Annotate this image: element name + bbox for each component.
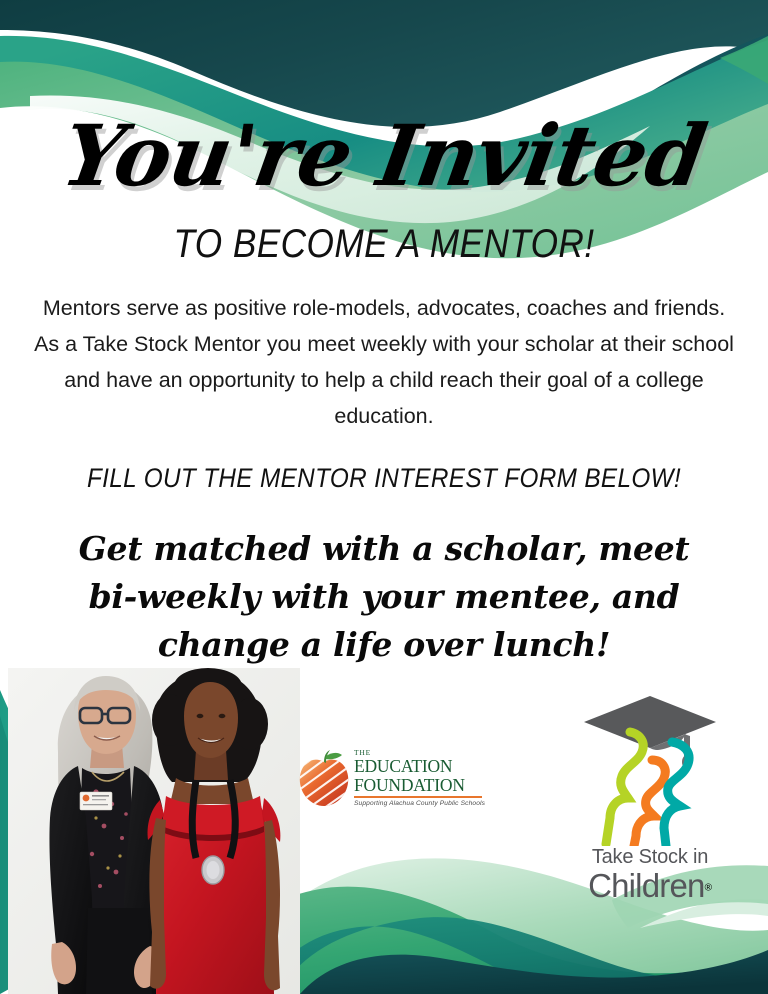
take-stock-in-children-logo: Take Stock in Children®	[566, 694, 734, 920]
education-foundation-logo: THE EDUCATION FOUNDATION Supporting Alac…	[296, 748, 486, 810]
graduation-cap-and-figures-icon	[566, 694, 734, 846]
body-paragraph: Mentors serve as positive role-models, a…	[34, 290, 734, 434]
striped-apple-icon	[296, 750, 352, 808]
flyer-page: You're Invited TO BECOME A MENTOR! Mento…	[0, 0, 768, 994]
pitch-line-1: Get matched with a scholar, meet	[40, 525, 728, 573]
page-subtitle: TO BECOME A MENTOR!	[46, 224, 722, 264]
mentor-scholar-photo	[0, 668, 300, 994]
tsc-line1-label: Take Stock in	[566, 846, 734, 868]
page-title: You're Invited	[0, 114, 768, 198]
ef-foundation-label: FOUNDATION	[354, 776, 486, 795]
tsc-line2-label: Children	[588, 868, 705, 903]
education-foundation-wordmark: THE EDUCATION FOUNDATION Supporting Alac…	[354, 748, 486, 807]
call-to-action-line: FILL OUT THE MENTOR INTEREST FORM BELOW!	[38, 463, 729, 494]
photo-illustration	[0, 668, 300, 994]
ef-tagline: Supporting Alachua County Public Schools	[354, 800, 486, 807]
registered-trademark-mark: ®	[705, 883, 712, 894]
pitch-block: Get matched with a scholar, meet bi-week…	[40, 525, 728, 669]
pitch-line-3: change a life over lunch!	[40, 621, 728, 669]
pitch-line-2: bi-weekly with your mentee, and	[40, 573, 728, 621]
take-stock-wordmark: Take Stock in Children®	[566, 846, 734, 903]
ef-divider-rule	[354, 796, 482, 798]
ef-education-label: EDUCATION	[354, 757, 486, 776]
